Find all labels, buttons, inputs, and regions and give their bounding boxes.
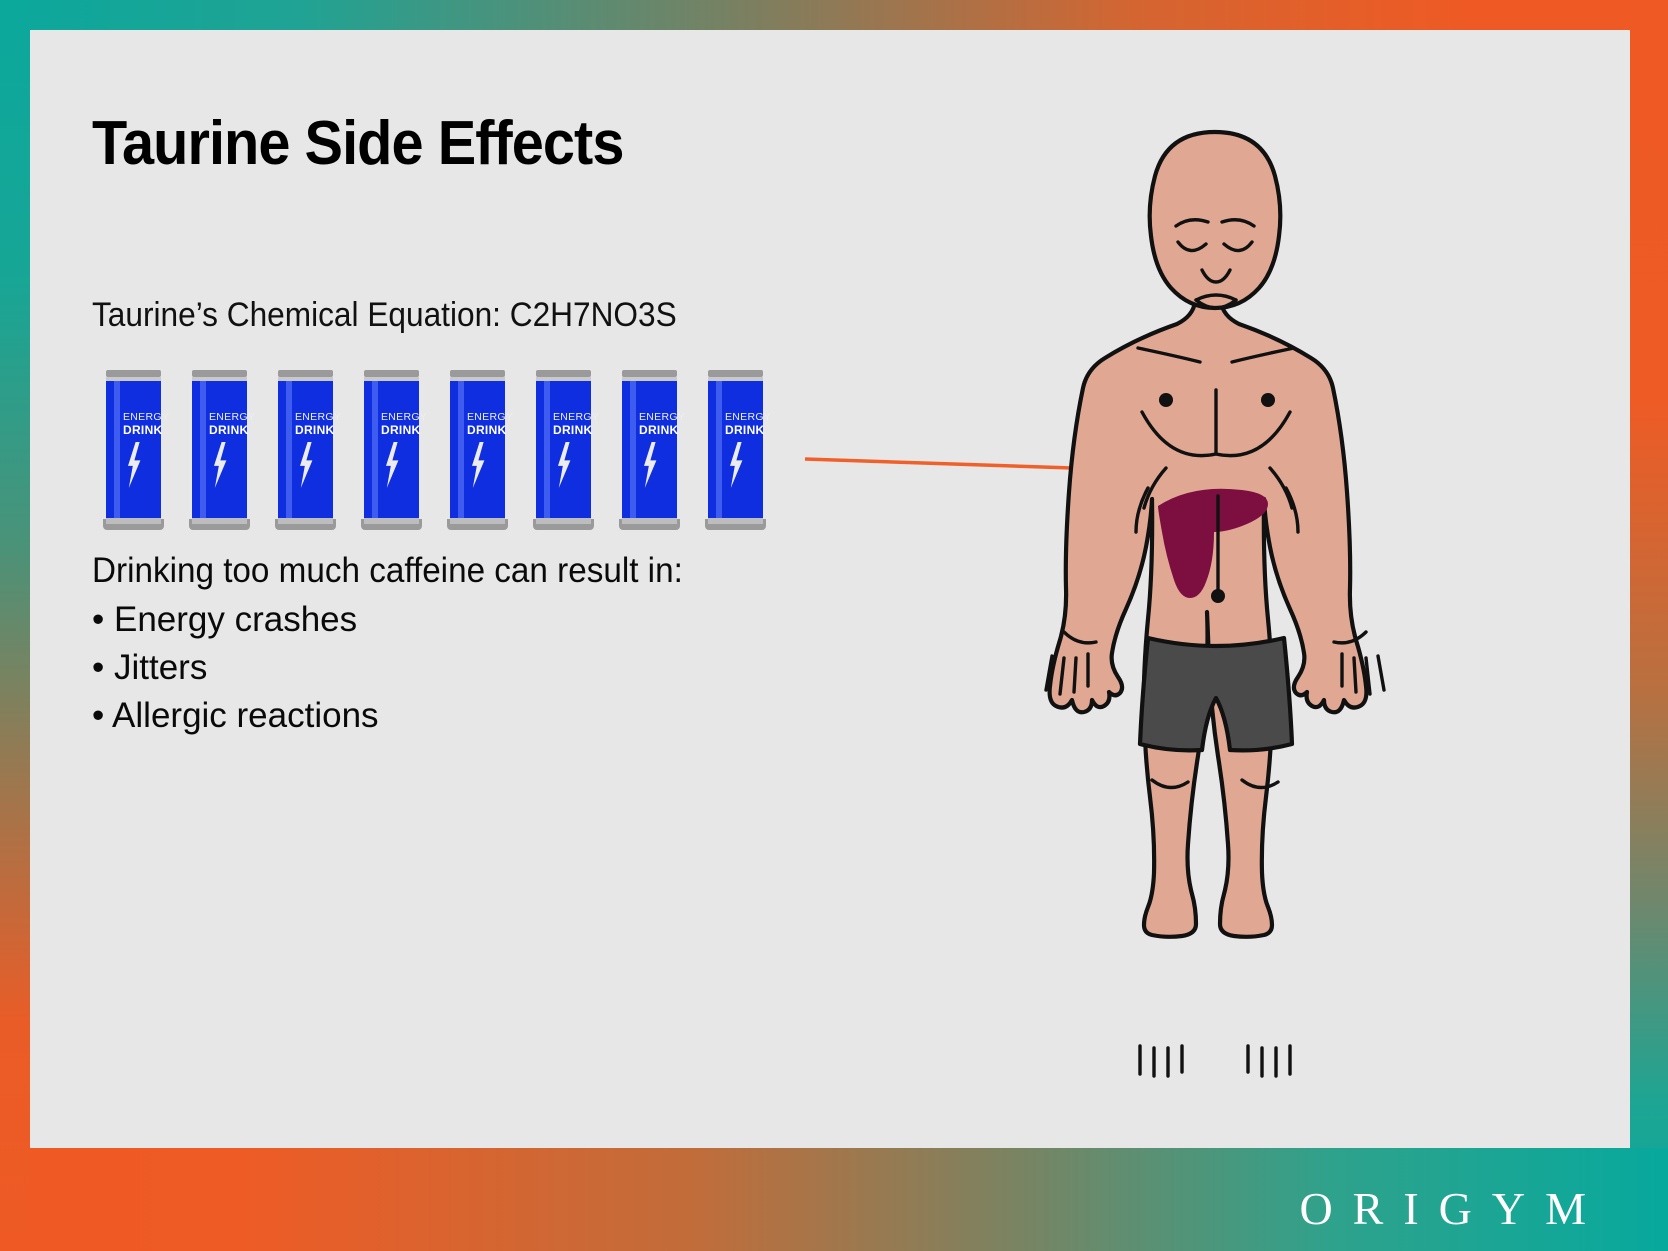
can-highlight bbox=[286, 381, 292, 519]
energy-drink-can: ENERGYDRINK bbox=[619, 370, 680, 530]
can-label-bottom: DRINK bbox=[467, 424, 511, 436]
energy-drink-can: ENERGYDRINK bbox=[275, 370, 336, 530]
oblique-right bbox=[1286, 488, 1298, 532]
lightning-bolt-icon bbox=[124, 442, 144, 488]
can-body bbox=[708, 381, 763, 519]
knee-left bbox=[1152, 780, 1188, 788]
mouth-lower bbox=[1196, 300, 1236, 308]
collarbone-left bbox=[1138, 348, 1200, 362]
ear-right bbox=[1264, 202, 1277, 248]
lightning-bolt-icon bbox=[468, 442, 488, 488]
can-body bbox=[106, 381, 161, 519]
energy-drink-can: ENERGYDRINK bbox=[189, 370, 250, 530]
can-lid-rim bbox=[708, 377, 763, 381]
can-highlight bbox=[114, 381, 120, 519]
lightning-bolt-icon bbox=[296, 442, 316, 488]
can-highlight bbox=[716, 381, 722, 519]
effects-lead-text: Drinking too much caffeine can result in… bbox=[92, 551, 683, 591]
can-lid bbox=[106, 370, 161, 377]
can-lid-rim bbox=[536, 377, 591, 381]
frame-strip-bottom bbox=[0, 1148, 1668, 1251]
can-lid bbox=[622, 370, 677, 377]
can-lid bbox=[192, 370, 247, 377]
frame-strip-right bbox=[1630, 0, 1668, 1251]
effect-item-jitters: • Jitters bbox=[92, 648, 207, 688]
can-label-bottom: DRINK bbox=[123, 424, 167, 436]
pectoral-left bbox=[1142, 412, 1216, 456]
can-base bbox=[189, 519, 250, 530]
energy-drink-can-row: ENERGYDRINKENERGYDRINKENERGYDRINKENERGYD… bbox=[103, 370, 803, 530]
can-base-rim bbox=[106, 518, 161, 524]
can-label-bottom: DRINK bbox=[295, 424, 339, 436]
can-lid bbox=[278, 370, 333, 377]
can-base-rim bbox=[278, 518, 333, 524]
can-lid bbox=[364, 370, 419, 377]
can-base-rim bbox=[450, 518, 505, 524]
mouth-upper bbox=[1196, 295, 1236, 300]
oblique-left bbox=[1136, 488, 1148, 532]
body-silhouette bbox=[1050, 265, 1367, 937]
can-label-top: ENERGY bbox=[725, 412, 769, 423]
can-base-rim bbox=[364, 518, 419, 524]
frame-strip-top bbox=[0, 0, 1668, 30]
effect-item-energy-crashes: • Energy crashes bbox=[92, 600, 357, 640]
can-lid-rim bbox=[450, 377, 505, 381]
can-base bbox=[361, 519, 422, 530]
can-highlight bbox=[544, 381, 550, 519]
can-highlight bbox=[372, 381, 378, 519]
energy-drink-can: ENERGYDRINK bbox=[533, 370, 594, 530]
pointer-line bbox=[805, 455, 1220, 477]
can-label-top: ENERGY bbox=[553, 412, 597, 423]
rib-left bbox=[1144, 468, 1166, 508]
liver-organ bbox=[1158, 489, 1268, 598]
collarbone-right bbox=[1232, 348, 1294, 362]
can-lid-rim bbox=[106, 377, 161, 381]
finger-right-2 bbox=[1366, 658, 1370, 694]
nose bbox=[1202, 270, 1230, 282]
can-base bbox=[533, 519, 594, 530]
lightning-bolt-icon bbox=[382, 442, 402, 488]
male-body-illustration bbox=[990, 90, 1440, 1100]
can-base bbox=[275, 519, 336, 530]
energy-drink-can: ENERGYDRINK bbox=[103, 370, 164, 530]
energy-drink-can: ENERGYDRINK bbox=[447, 370, 508, 530]
finger-left-1 bbox=[1046, 656, 1052, 690]
can-label-bottom: DRINK bbox=[725, 424, 769, 436]
infographic-panel: Taurine Side Effects Taurine’s Chemical … bbox=[30, 30, 1630, 1148]
eye-right bbox=[1224, 242, 1252, 251]
can-body bbox=[536, 381, 591, 519]
shorts bbox=[1140, 638, 1292, 750]
eyebrow-right bbox=[1222, 220, 1254, 226]
can-lid-rim bbox=[364, 377, 419, 381]
can-base-rim bbox=[708, 518, 763, 524]
hand-crease-left bbox=[1064, 632, 1096, 643]
origym-logo: ORIGYM bbox=[1279, 1182, 1606, 1235]
can-label-top: ENERGY bbox=[381, 412, 425, 423]
can-base bbox=[103, 519, 164, 530]
pectoral-right bbox=[1216, 412, 1290, 456]
lightning-bolt-icon bbox=[554, 442, 574, 488]
can-label-bottom: DRINK bbox=[209, 424, 253, 436]
can-base bbox=[619, 519, 680, 530]
gradient-border-frame: Taurine Side Effects Taurine’s Chemical … bbox=[0, 0, 1668, 1251]
can-lid-rim bbox=[278, 377, 333, 381]
can-lid bbox=[450, 370, 505, 377]
energy-drink-can: ENERGYDRINK bbox=[361, 370, 422, 530]
knee-right bbox=[1242, 780, 1278, 788]
can-lid bbox=[708, 370, 763, 377]
head bbox=[1150, 132, 1281, 308]
finger-left-2 bbox=[1060, 658, 1064, 694]
can-body bbox=[450, 381, 505, 519]
rib-right bbox=[1270, 468, 1292, 508]
can-body bbox=[192, 381, 247, 519]
can-highlight bbox=[458, 381, 464, 519]
can-body bbox=[278, 381, 333, 519]
eyebrow-left bbox=[1176, 220, 1208, 226]
can-highlight bbox=[630, 381, 636, 519]
ear-left bbox=[1153, 202, 1166, 248]
can-label-bottom: DRINK bbox=[381, 424, 425, 436]
effect-item-allergic-reactions: • Allergic reactions bbox=[92, 696, 379, 736]
lightning-bolt-icon bbox=[640, 442, 660, 488]
can-body bbox=[622, 381, 677, 519]
energy-drink-can: ENERGYDRINK bbox=[705, 370, 766, 530]
can-lid-rim bbox=[192, 377, 247, 381]
nipple-left bbox=[1159, 393, 1173, 407]
can-lid bbox=[536, 370, 591, 377]
can-label-bottom: DRINK bbox=[553, 424, 597, 436]
can-base bbox=[447, 519, 508, 530]
can-base-rim bbox=[622, 518, 677, 524]
navel bbox=[1211, 589, 1225, 603]
can-label-top: ENERGY bbox=[123, 412, 167, 423]
finger-right-1 bbox=[1378, 656, 1384, 690]
chemical-equation-text: Taurine’s Chemical Equation: C2H7NO3S bbox=[92, 296, 677, 335]
can-base-rim bbox=[536, 518, 591, 524]
can-base bbox=[705, 519, 766, 530]
can-label-top: ENERGY bbox=[639, 412, 683, 423]
can-label-top: ENERGY bbox=[209, 412, 253, 423]
can-base-rim bbox=[192, 518, 247, 524]
finger-left-3 bbox=[1074, 658, 1076, 692]
can-body bbox=[364, 381, 419, 519]
lightning-bolt-icon bbox=[726, 442, 746, 488]
lightning-bolt-icon bbox=[210, 442, 230, 488]
eye-left bbox=[1178, 242, 1206, 251]
nipple-right bbox=[1261, 393, 1275, 407]
can-label-bottom: DRINK bbox=[639, 424, 683, 436]
page-title: Taurine Side Effects bbox=[92, 108, 623, 179]
frame-strip-left bbox=[0, 0, 30, 1251]
can-highlight bbox=[200, 381, 206, 519]
can-label-top: ENERGY bbox=[295, 412, 339, 423]
can-label-top: ENERGY bbox=[467, 412, 511, 423]
hand-crease-right bbox=[1334, 632, 1366, 643]
can-lid-rim bbox=[622, 377, 677, 381]
finger-right-3 bbox=[1354, 658, 1356, 692]
